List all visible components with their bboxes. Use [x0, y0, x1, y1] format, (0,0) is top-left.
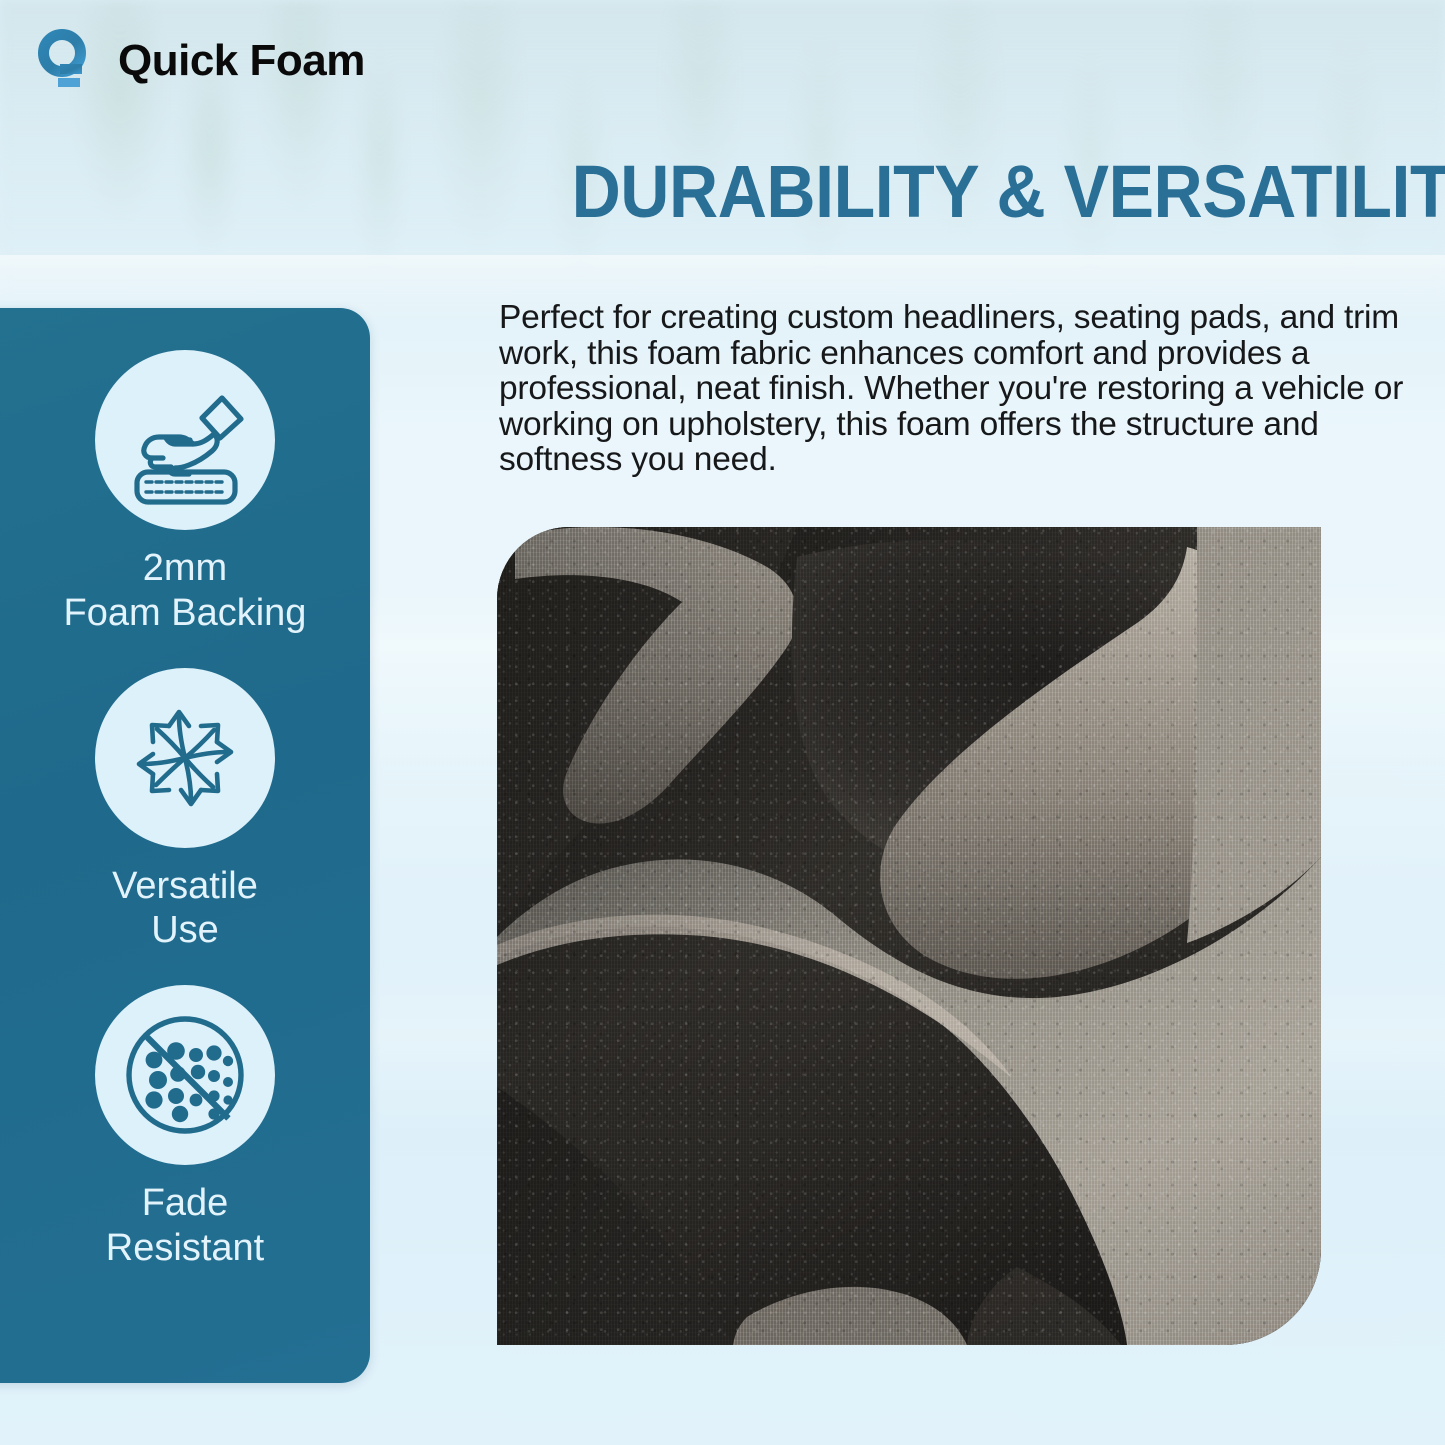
feature-panel: 2mm Foam Backing [0, 308, 370, 1383]
feature-label: Fade Resistant [106, 1181, 264, 1271]
feature-label: Versatile Use [112, 864, 258, 954]
brand-logo: Quick Foam [36, 28, 365, 94]
hand-pressing-foam-icon [95, 350, 275, 530]
foam-grain-texture [497, 527, 1321, 1345]
radiating-arrows-icon [95, 668, 275, 848]
feature-item-fade-resistant: Fade Resistant [0, 985, 370, 1271]
intro-paragraph: Perfect for creating custom headliners, … [499, 300, 1409, 478]
product-photo [497, 527, 1321, 1345]
feature-label: 2mm Foam Backing [64, 546, 307, 636]
page-background: Quick Foam DURABILITY & VERSATILITY Perf… [0, 0, 1445, 1445]
brand-name: Quick Foam [118, 36, 365, 86]
quick-foam-q-logo-icon [36, 28, 98, 94]
no-fade-dots-icon [95, 985, 275, 1165]
feature-item-foam-backing: 2mm Foam Backing [0, 350, 370, 636]
page-title: DURABILITY & VERSATILITY [572, 155, 1395, 229]
feature-item-versatile-use: Versatile Use [0, 668, 370, 954]
